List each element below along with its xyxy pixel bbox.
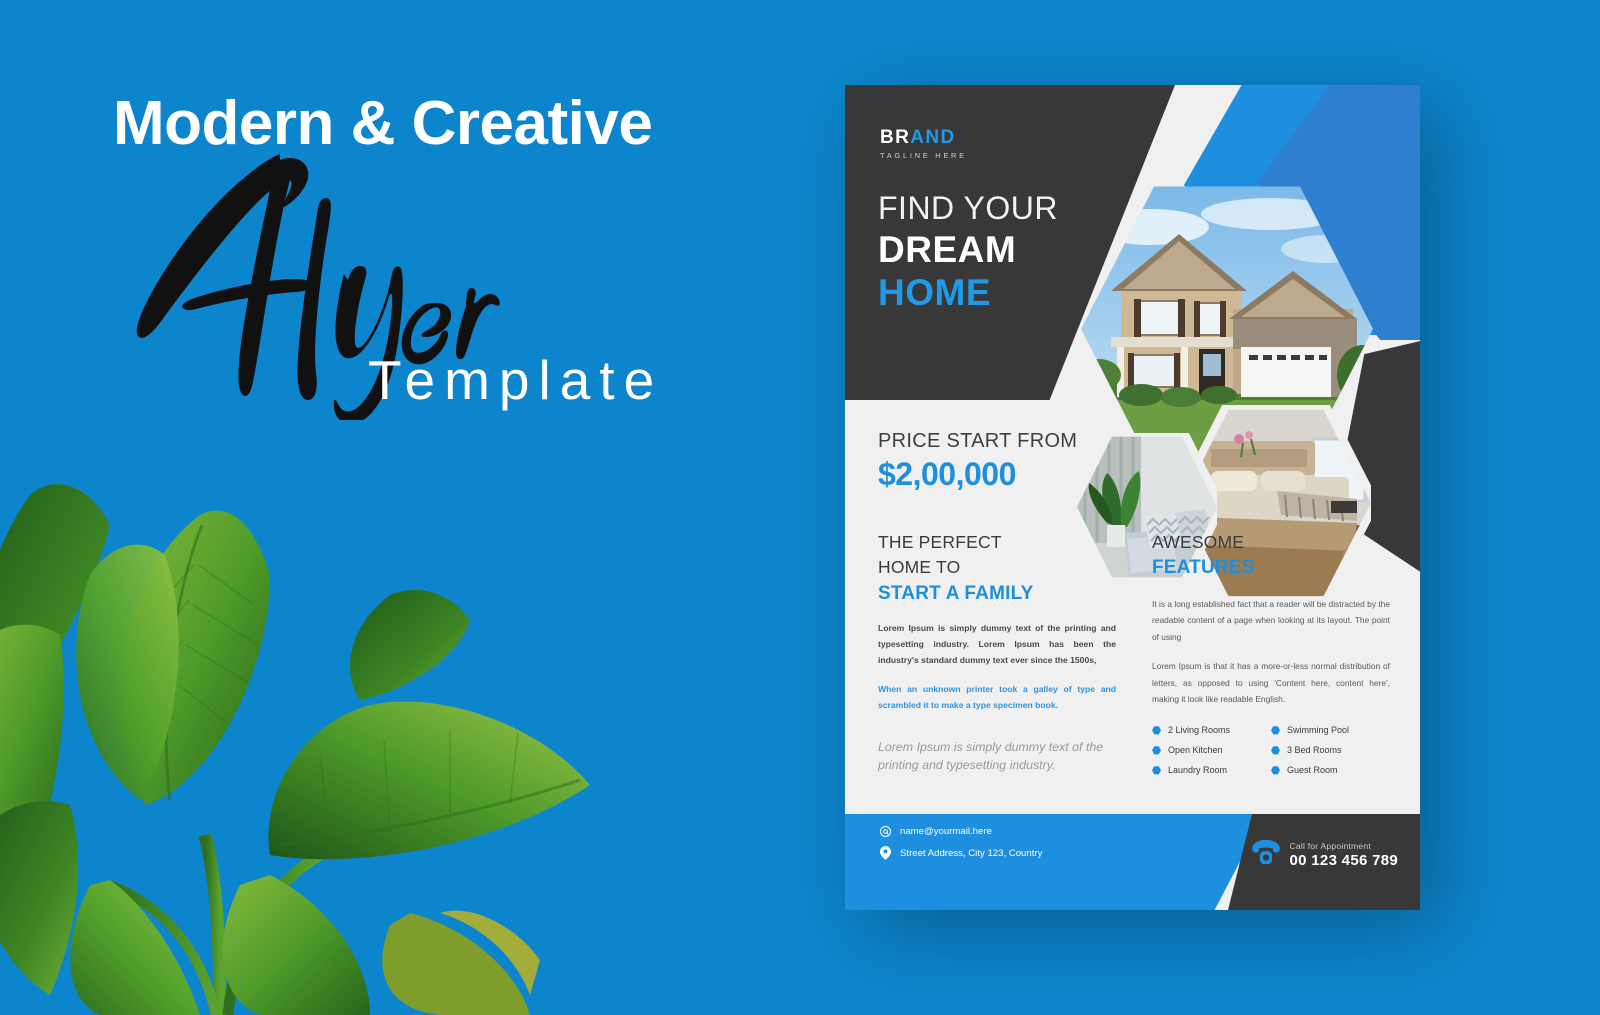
features-list: 2 Living Rooms Swimming Pool Open Kitche… xyxy=(1152,725,1390,785)
brand-name-part1: BR xyxy=(880,127,910,148)
brand-logo: BRAND TAGLINE HERE xyxy=(880,128,967,160)
feature-label: 2 Living Rooms xyxy=(1168,725,1230,735)
map-pin-icon xyxy=(878,846,892,860)
hero-heading: FIND YOUR DREAM HOME xyxy=(878,190,1058,315)
hexagon-bullet-icon xyxy=(1271,746,1280,755)
list-item: 3 Bed Rooms xyxy=(1271,745,1390,755)
flyer-document: BRAND TAGLINE HERE FIND YOUR DREAM HOME … xyxy=(845,85,1420,910)
left-heading-line-1: THE PERFECT xyxy=(878,530,1116,555)
list-item: Swimming Pool xyxy=(1271,725,1390,735)
telephone-icon xyxy=(1251,839,1281,870)
footer-email: name@yourmail.here xyxy=(900,826,992,837)
left-heading-accent: START A FAMILY xyxy=(878,581,1116,608)
plant-decoration xyxy=(0,455,700,1015)
right-heading-accent: FEATURES xyxy=(1152,555,1390,582)
footer-phone-text: Call for Appointment 00 123 456 789 xyxy=(1290,841,1398,869)
promo-subhead: Template xyxy=(368,348,663,412)
feature-label: 3 Bed Rooms xyxy=(1287,745,1342,755)
phone-number: 00 123 456 789 xyxy=(1290,852,1398,869)
left-paragraph-1: Lorem Ipsum is simply dummy text of the … xyxy=(878,621,1116,669)
footer-address: Street Address, City 123, Country xyxy=(900,848,1042,859)
at-icon xyxy=(878,825,892,838)
feature-label: Swimming Pool xyxy=(1287,725,1349,735)
hexagon-bullet-icon xyxy=(1271,726,1280,735)
hexagon-bullet-icon xyxy=(1271,766,1280,775)
right-paragraph-1: It is a long established fact that a rea… xyxy=(1152,596,1390,645)
hero-line-2: DREAM xyxy=(878,228,1058,272)
feature-label: Open Kitchen xyxy=(1168,745,1223,755)
footer-contact: name@yourmail.here Street Address, City … xyxy=(878,825,1042,868)
hexagon-bullet-icon xyxy=(1152,726,1161,735)
phone-label: Call for Appointment xyxy=(1290,841,1398,851)
left-paragraph-2: When an unknown printer took a galley of… xyxy=(878,682,1116,714)
list-item: Open Kitchen xyxy=(1152,745,1271,755)
feature-label: Guest Room xyxy=(1287,765,1338,775)
content-columns: THE PERFECT HOME TO START A FAMILY Lorem… xyxy=(878,530,1390,785)
right-column: AWESOME FEATURES It is a long establishe… xyxy=(1152,530,1390,785)
right-heading-line-1: AWESOME xyxy=(1152,530,1390,555)
hexagon-bullet-icon xyxy=(1152,766,1161,775)
right-paragraph-2: Lorem Ipsum is that it has a more-or-les… xyxy=(1152,658,1390,707)
footer-address-row[interactable]: Street Address, City 123, Country xyxy=(878,846,1042,860)
price-block: PRICE START FROM $2,00,000 xyxy=(878,430,1077,493)
brand-tagline: TAGLINE HERE xyxy=(880,151,967,160)
price-value: $2,00,000 xyxy=(878,456,1077,493)
brand-name: BRAND xyxy=(880,128,967,147)
list-item: 2 Living Rooms xyxy=(1152,725,1271,735)
list-item: Laundry Room xyxy=(1152,765,1271,775)
promo-panel: Modern & Creative Template xyxy=(0,0,845,1000)
brand-name-part2: AND xyxy=(910,127,955,148)
left-column: THE PERFECT HOME TO START A FAMILY Lorem… xyxy=(878,530,1116,785)
left-heading-line-2: HOME TO xyxy=(878,555,1116,580)
hero-line-1: FIND YOUR xyxy=(878,190,1058,228)
hexagon-bullet-icon xyxy=(1152,746,1161,755)
hero-line-3: HOME xyxy=(878,271,1058,315)
list-item: Guest Room xyxy=(1271,765,1390,775)
footer-email-row[interactable]: name@yourmail.here xyxy=(878,825,1042,838)
left-paragraph-3: Lorem Ipsum is simply dummy text of the … xyxy=(878,738,1116,775)
footer-phone[interactable]: Call for Appointment 00 123 456 789 xyxy=(1251,839,1398,870)
price-label: PRICE START FROM xyxy=(878,430,1077,453)
feature-label: Laundry Room xyxy=(1168,765,1227,775)
